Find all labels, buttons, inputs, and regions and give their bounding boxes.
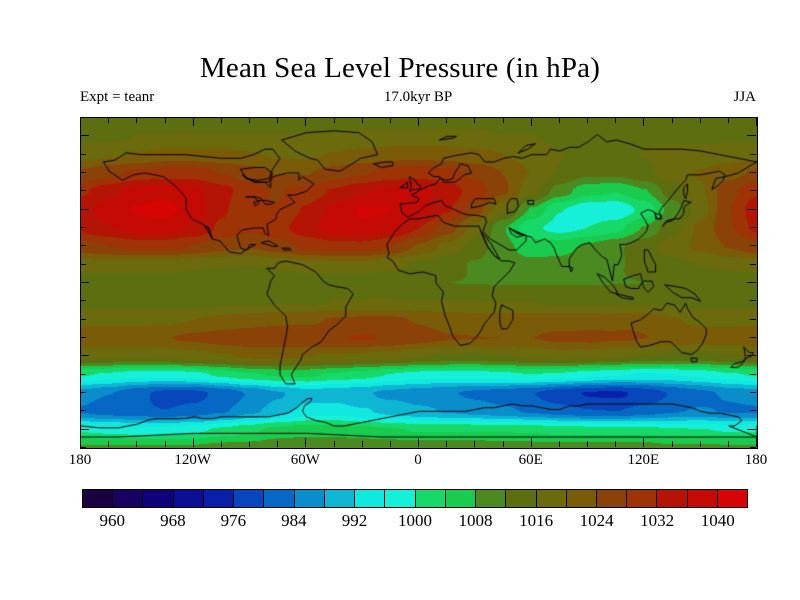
y-axis-tick-right: [750, 245, 756, 246]
colorbar-cell: [83, 490, 113, 507]
x-axis-tick-label: 60W: [291, 452, 320, 469]
y-axis-tick: [80, 447, 86, 448]
y-axis-tick: [80, 135, 89, 136]
colorbar-cell: [113, 490, 143, 507]
x-axis-tick-label: 180: [745, 452, 768, 469]
x-axis-tick-top: [503, 117, 504, 123]
y-axis-tick: [80, 227, 86, 228]
y-axis-tick-right: [747, 429, 756, 430]
colorbar-tick-label: 984: [281, 511, 307, 531]
x-axis-tick: [165, 441, 166, 447]
x-axis-tick: [446, 441, 447, 447]
x-axis-tick-top: [700, 117, 701, 123]
x-axis-tick: [643, 438, 644, 447]
x-axis-tick-top: [756, 117, 757, 126]
colorbar-tick-label: 992: [342, 511, 368, 531]
x-axis-tick-top: [672, 117, 673, 123]
x-axis-tick: [221, 441, 222, 447]
y-axis-tick: [80, 300, 86, 301]
colorbar-cell: [688, 490, 718, 507]
y-axis-tick-right: [750, 319, 756, 320]
x-axis-tick-top: [136, 117, 137, 123]
x-axis-tick: [305, 438, 306, 447]
colorbar-tick-label: 1040: [701, 511, 735, 531]
x-axis-tick-top: [305, 117, 306, 126]
x-axis-tick-top: [390, 117, 391, 123]
x-axis-tick: [334, 441, 335, 447]
x-axis-tick-label: 120E: [627, 452, 659, 469]
x-axis-tick-top: [587, 117, 588, 123]
pressure-field-canvas: [81, 118, 757, 448]
colorbar-cell: [567, 490, 597, 507]
y-axis-tick: [80, 154, 86, 155]
y-axis-tick: [80, 374, 86, 375]
colorbar-cell: [325, 490, 355, 507]
y-axis-tick-right: [750, 227, 756, 228]
y-axis-tick-right: [750, 190, 756, 191]
x-axis-tick: [390, 441, 391, 447]
x-axis-tick-label: 120W: [174, 452, 211, 469]
colorbar-cell: [627, 490, 657, 507]
y-axis-tick: [80, 410, 86, 411]
x-axis-tick-top: [615, 117, 616, 123]
y-axis-tick-right: [750, 374, 756, 375]
colorbar-tick-label: 1016: [519, 511, 553, 531]
y-axis-tick: [80, 264, 86, 265]
colorbar-cell: [537, 490, 567, 507]
x-axis-tick: [615, 441, 616, 447]
x-axis-tick: [503, 441, 504, 447]
epoch-label: 17.0kyr BP: [80, 89, 756, 106]
x-axis-tick-top: [446, 117, 447, 123]
y-axis-tick-right: [750, 117, 756, 118]
y-axis-tick-right: [747, 209, 756, 210]
y-axis-tick-right: [750, 447, 756, 448]
y-axis-tick: [80, 209, 89, 210]
x-axis-tick: [418, 438, 419, 447]
x-axis-tick-top: [249, 117, 250, 123]
x-axis-tick-top: [728, 117, 729, 123]
colorbar-cell: [174, 490, 204, 507]
colorbar-cell: [264, 490, 294, 507]
x-axis-tick: [700, 441, 701, 447]
colorbar-cell: [204, 490, 234, 507]
y-axis-tick-right: [750, 392, 756, 393]
colorbar-tick-label: 960: [100, 511, 126, 531]
x-axis-tick: [728, 441, 729, 447]
x-axis-tick: [249, 441, 250, 447]
y-axis-tick-right: [750, 172, 756, 173]
x-axis-tick-label: 0: [414, 452, 422, 469]
x-axis-tick-top: [643, 117, 644, 126]
y-axis-tick-right: [747, 282, 756, 283]
colorbar-tick-label: 1032: [640, 511, 674, 531]
colorbar-swatches: [82, 489, 748, 508]
y-axis-tick-right: [747, 135, 756, 136]
x-axis-tick-top: [193, 117, 194, 126]
x-axis-tick: [193, 438, 194, 447]
y-axis-tick: [80, 355, 89, 356]
x-axis-tick-top: [221, 117, 222, 123]
x-axis-tick: [672, 441, 673, 447]
colorbar-tick-label: 1008: [459, 511, 493, 531]
colorbar-tick-label: 1000: [398, 511, 432, 531]
y-axis-tick-right: [747, 355, 756, 356]
colorbar-cell: [234, 490, 264, 507]
pressure-map-panel: [80, 117, 758, 449]
x-axis-tick-label: 180: [69, 452, 92, 469]
x-axis-tick-label: 60E: [519, 452, 543, 469]
colorbar-cell: [295, 490, 325, 507]
y-axis-tick: [80, 392, 86, 393]
y-axis-tick: [80, 172, 86, 173]
figure-root: Mean Sea Level Pressure (in hPa) Expt = …: [0, 0, 800, 600]
colorbar-tick-label: 968: [160, 511, 186, 531]
x-axis-tick-top: [108, 117, 109, 123]
colorbar-tick-label: 976: [221, 511, 247, 531]
x-axis-tick: [559, 441, 560, 447]
x-axis-tick-top: [531, 117, 532, 126]
colorbar: [82, 489, 748, 508]
y-axis-tick-right: [750, 300, 756, 301]
x-axis-tick-top: [277, 117, 278, 123]
y-axis-tick: [80, 429, 89, 430]
y-axis-tick: [80, 337, 86, 338]
x-axis-tick-top: [418, 117, 419, 126]
x-axis-tick: [474, 441, 475, 447]
colorbar-cell: [416, 490, 446, 507]
x-axis-tick-top: [559, 117, 560, 123]
x-axis-tick: [80, 438, 81, 447]
colorbar-cell: [476, 490, 506, 507]
season-label: JJA: [733, 89, 756, 106]
y-axis-tick: [80, 245, 86, 246]
y-axis-tick-right: [750, 154, 756, 155]
x-axis-tick: [136, 441, 137, 447]
x-axis-tick: [531, 438, 532, 447]
x-axis-tick-top: [474, 117, 475, 123]
colorbar-cell: [506, 490, 536, 507]
colorbar-cell: [657, 490, 687, 507]
x-axis-tick-top: [334, 117, 335, 123]
y-axis-tick-right: [750, 337, 756, 338]
colorbar-cell: [718, 490, 747, 507]
colorbar-cell: [143, 490, 173, 507]
colorbar-cell: [446, 490, 476, 507]
x-axis-tick-top: [165, 117, 166, 123]
y-axis-tick-right: [750, 410, 756, 411]
colorbar-cell: [355, 490, 385, 507]
y-axis-tick-right: [750, 264, 756, 265]
y-axis-tick: [80, 117, 86, 118]
y-axis-tick: [80, 319, 86, 320]
page-title: Mean Sea Level Pressure (in hPa): [0, 52, 800, 85]
x-axis-tick: [277, 441, 278, 447]
subtitle-row: Expt = teanr 17.0kyr BP JJA: [80, 89, 756, 107]
x-axis-tick-top: [80, 117, 81, 126]
x-axis-tick: [756, 438, 757, 447]
colorbar-cell: [385, 490, 415, 507]
x-axis-tick: [108, 441, 109, 447]
y-axis-tick: [80, 190, 86, 191]
x-axis-tick: [587, 441, 588, 447]
y-axis-tick: [80, 282, 89, 283]
colorbar-cell: [597, 490, 627, 507]
colorbar-tick-label: 1024: [580, 511, 614, 531]
x-axis-tick-top: [362, 117, 363, 123]
x-axis-tick: [362, 441, 363, 447]
